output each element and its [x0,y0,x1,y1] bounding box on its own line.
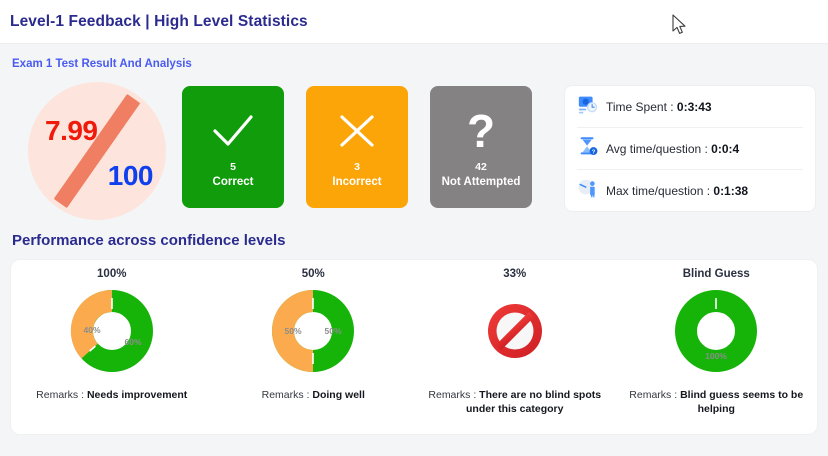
donut-slice-label: 40% [83,325,100,335]
remarks-label: Remarks : [428,389,479,401]
score-circle: 7.99 100 [28,82,166,220]
time-row-value: 0:0:4 [711,142,739,156]
app-header: Level-1 Feedback | High Level Statistics [0,0,828,44]
remarks-value: There are no blind spots under this cate… [466,389,601,415]
score-circle-wrap: 7.99 100 [12,80,182,220]
remarks-label: Remarks : [36,389,87,401]
tile-count: 3 [354,160,360,175]
max-time-icon [577,177,599,204]
tile-count: 5 [230,160,236,175]
remarks-value: Needs improvement [87,389,187,401]
performance-card: 100% 40% 60% Remarks : Needs improvement… [10,259,818,435]
time-stats-panel: Time Spent : 0:3:43 ? Avg time/question … [564,85,816,212]
donut-slice-label: 60% [124,337,141,347]
time-row-text: Time Spent : 0:3:43 [606,100,712,114]
performance-title: Performance across confidence levels [0,220,828,249]
tile-correct[interactable]: 5 Correct [182,86,284,208]
remarks-value: Blind guess seems to be helping [680,389,803,415]
stats-row: 7.99 100 5 Correct 3 Incorrect [0,80,828,220]
time-row-text: Max time/question : 0:1:38 [606,184,748,198]
prohibited-icon [484,300,546,362]
time-row-label: Avg time/question : [606,142,711,156]
section-strip: Exam 1 Test Result And Analysis [0,44,828,80]
remarks-value: Doing well [312,389,365,401]
remarks-50: Remarks : Doing well [262,388,365,402]
donut-chart-blind-guess: 100% [674,288,758,374]
remarks-blind-guess: Remarks : Blind guess seems to be helpin… [621,388,811,416]
time-row-value: 0:3:43 [677,100,712,114]
check-icon [210,104,256,158]
remarks-100: Remarks : Needs improvement [36,388,187,402]
section-label: Exam 1 Test Result And Analysis [12,58,192,70]
donut-slice-label: 100% [705,351,727,361]
time-row-value: 0:1:38 [713,184,748,198]
time-row-label: Time Spent : [606,100,677,114]
confidence-column-33: 33% Remarks : There are no blind spots u… [414,268,616,434]
time-row-label: Max time/question : [606,184,713,198]
tile-count: 42 [475,160,487,175]
confidence-level-label: 100% [97,268,126,280]
metric-tiles: 5 Correct 3 Incorrect ? 42 Not Attempted [182,80,532,208]
confidence-level-label: 50% [302,268,325,280]
confidence-column-50: 50% 50% 50% Remarks : Doing well [213,268,415,434]
donut-chart-50: 50% 50% [271,288,355,374]
time-row-text: Avg time/question : 0:0:4 [606,142,739,156]
confidence-level-label: Blind Guess [683,268,750,280]
time-row-max-time: Max time/question : 0:1:38 [577,169,803,211]
score-total: 100 [108,160,153,192]
donut-slice-label: 50% [285,326,302,336]
svg-text:?: ? [592,149,596,155]
tile-label: Correct [213,175,254,190]
time-spent-icon [577,93,599,120]
tile-incorrect[interactable]: 3 Incorrect [306,86,408,208]
tile-not-attempted[interactable]: ? 42 Not Attempted [430,86,532,208]
remarks-label: Remarks : [629,389,680,401]
time-row-time-spent: Time Spent : 0:3:43 [577,86,803,127]
tile-label: Not Attempted [442,175,521,190]
confidence-column-blind-guess: Blind Guess 100% Remarks : Blind guess s… [616,268,818,434]
hourglass-icon: ? [577,135,599,162]
cross-icon [336,104,378,158]
remarks-33: Remarks : There are no blind spots under… [420,388,610,416]
donut-chart-100: 40% 60% [70,288,154,374]
page-title: Level-1 Feedback | High Level Statistics [10,13,308,31]
confidence-level-label: 33% [503,268,526,280]
confidence-column-100: 100% 40% 60% Remarks : Needs improvement [11,268,213,434]
time-row-avg-time: ? Avg time/question : 0:0:4 [577,127,803,169]
question-icon: ? [467,104,495,158]
donut-slice-label: 50% [325,326,342,336]
score-obtained: 7.99 [45,115,98,147]
remarks-label: Remarks : [262,389,313,401]
tile-label: Incorrect [332,175,381,190]
no-data-slot [484,288,546,374]
